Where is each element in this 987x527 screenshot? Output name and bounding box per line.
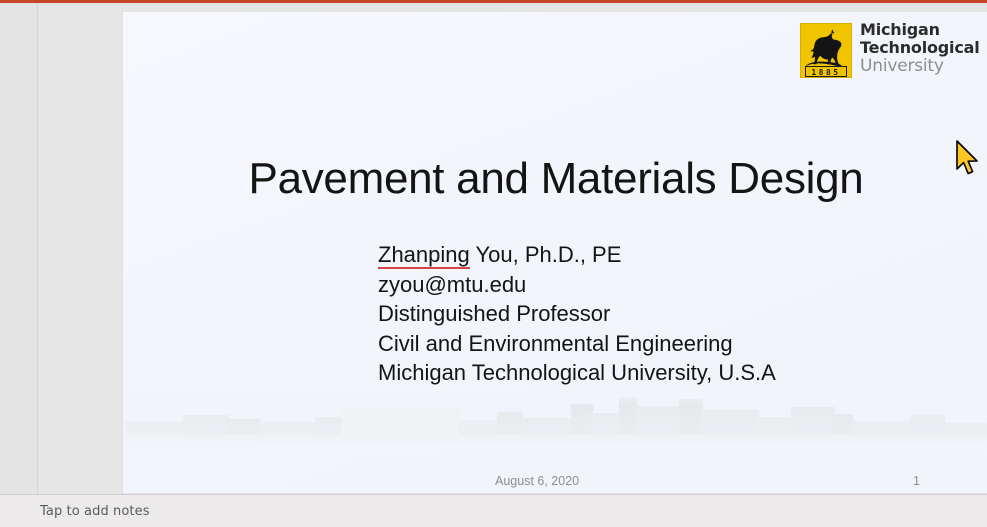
logo-wordmark-line3: University (860, 57, 979, 75)
logo-wordmark: Michigan Technological University (860, 21, 979, 75)
body-line-department: Civil and Environmental Engineering (378, 329, 776, 359)
slide-canvas[interactable]: 1885 Michigan Technological University P… (123, 12, 987, 493)
body-line-email: zyou@mtu.edu (378, 270, 776, 300)
campus-skyline-watermark (123, 391, 987, 453)
slide-editor-canvas-area[interactable]: 1885 Michigan Technological University P… (38, 3, 987, 494)
body-line-author-rest: You, Ph.D., PE (470, 242, 622, 267)
logo-founded-year: 1885 (805, 66, 847, 77)
body-line-author: Zhanping You, Ph.D., PE (378, 240, 776, 270)
body-line-institution: Michigan Technological University, U.S.A (378, 358, 776, 388)
misspelled-word: Zhanping (378, 242, 470, 269)
slide-body-text[interactable]: Zhanping You, Ph.D., PE zyou@mtu.edu Dis… (378, 240, 776, 388)
presentation-app-window: 1885 Michigan Technological University P… (0, 0, 987, 527)
slide-page-number[interactable]: 1 (913, 474, 920, 488)
logo-wordmark-line1: Michigan (860, 21, 979, 39)
slide-title[interactable]: Pavement and Materials Design (123, 154, 987, 204)
michigan-tech-logo: 1885 Michigan Technological University (800, 19, 985, 81)
body-line-title: Distinguished Professor (378, 299, 776, 329)
logo-wordmark-line2: Technological (860, 39, 979, 57)
notes-pane[interactable]: Tap to add notes (0, 494, 987, 527)
slide-footer-date[interactable]: August 6, 2020 (495, 474, 579, 488)
notes-placeholder[interactable]: Tap to add notes (40, 504, 150, 519)
left-rail-strip (0, 3, 38, 494)
